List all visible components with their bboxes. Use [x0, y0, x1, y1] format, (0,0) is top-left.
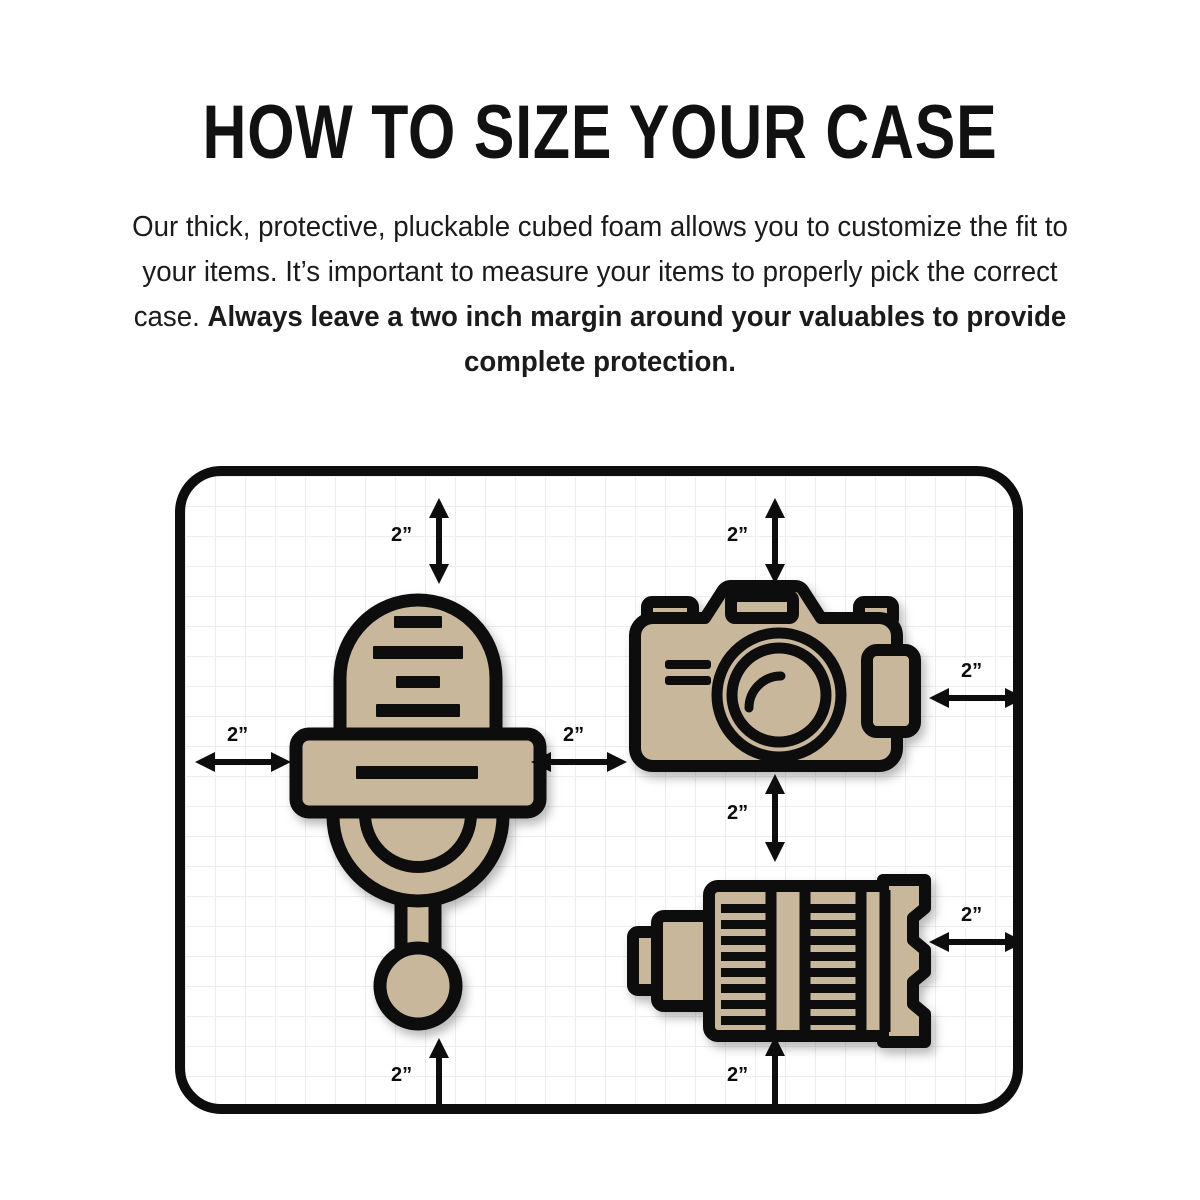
dimension-label: 2”	[961, 660, 982, 683]
camera-icon	[627, 580, 927, 775]
protective-case: 2” 2”	[175, 466, 1023, 1114]
dimension-label: 2”	[563, 724, 584, 747]
description-line-1: Our thick, protective, pluckable cubed f…	[132, 211, 830, 243]
page-title: HOW TO SIZE YOUR CASE	[120, 95, 1080, 171]
dimension-lens-right: 2”	[927, 898, 1023, 958]
dimension-label: 2”	[391, 524, 412, 547]
dimension-camera-top: 2”	[723, 496, 793, 586]
dimension-label: 2”	[961, 904, 982, 927]
dimension-mic-left: 2”	[193, 718, 293, 778]
foam-grid: 2” 2”	[185, 476, 1013, 1104]
description-line-3-bold: Always leave a two inch margin	[207, 301, 622, 333]
dimension-label: 2”	[391, 1064, 412, 1087]
dimension-label: 2”	[727, 524, 748, 547]
dimension-camera-lens-gap: 2”	[723, 772, 793, 864]
how-to-size-your-case-infographic: HOW TO SIZE YOUR CASE Our thick, protect…	[0, 0, 1200, 1200]
dimension-label: 2”	[227, 724, 248, 747]
dimension-label: 2”	[727, 802, 748, 825]
microphone-icon	[293, 578, 543, 1038]
dimension-label: 2”	[727, 1064, 748, 1087]
dimension-camera-right: 2”	[927, 654, 1023, 714]
dimension-lens-bottom: 2”	[723, 1034, 793, 1114]
dimension-mic-bottom: 2”	[387, 1036, 457, 1114]
dimension-mic-right: 2”	[529, 718, 629, 778]
page-description: Our thick, protective, pluckable cubed f…	[110, 205, 1090, 385]
dimension-mic-top: 2”	[387, 496, 457, 586]
camera-lens-icon	[625, 868, 945, 1043]
